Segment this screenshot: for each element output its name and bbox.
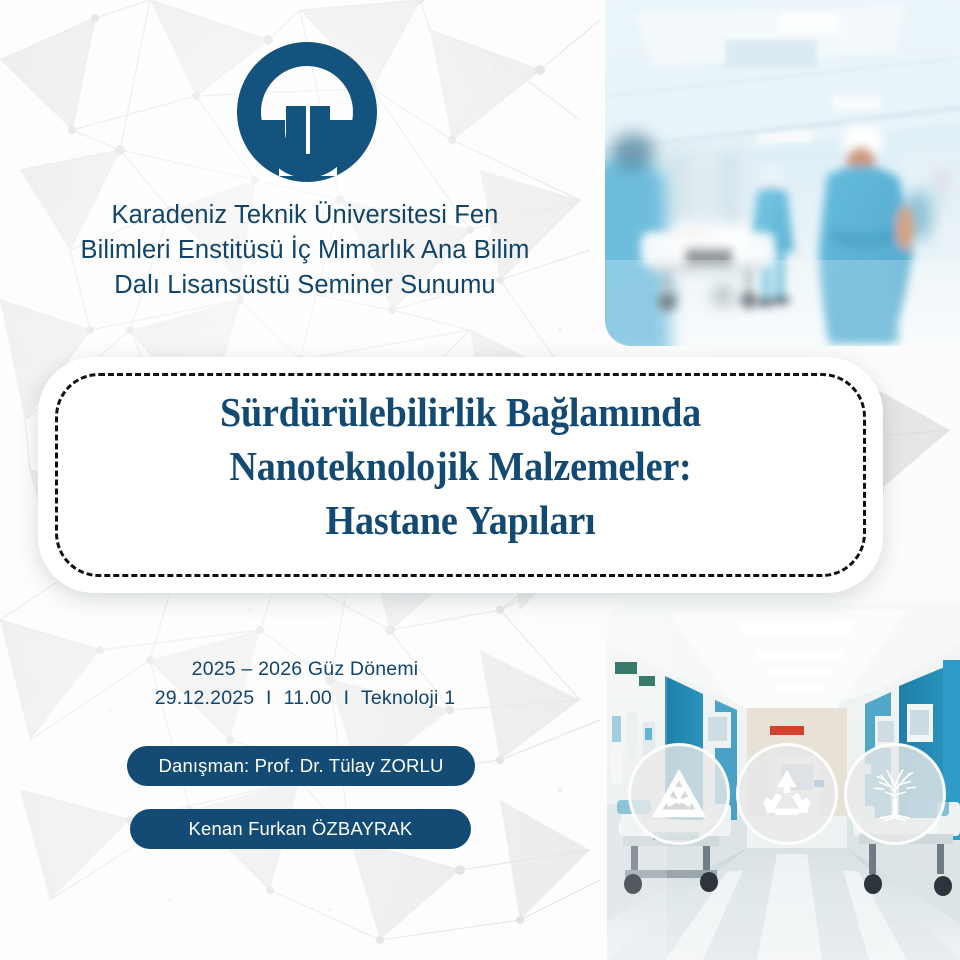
institution-line-1: Karadeniz Teknik Üniversitesi Fen xyxy=(10,198,600,233)
institution-heading: Karadeniz Teknik Üniversitesi Fen Biliml… xyxy=(10,198,600,304)
recycling-badge xyxy=(736,743,838,845)
institution-line-2: Bilimleri Enstitüsü İç Mimarlık Ana Bili… xyxy=(10,233,600,268)
recycling-icon xyxy=(756,763,818,825)
meta-separator-2: I xyxy=(338,687,356,709)
session-datetime-venue: 29.12.2025 I 11.00 I Teknoloji 1 xyxy=(10,684,600,713)
presenter-pill: Kenan Furkan ÖZBAYRAK xyxy=(130,809,471,849)
session-date: 29.12.2025 xyxy=(155,687,255,709)
hospital-corridor-staff-photo xyxy=(605,0,960,346)
advisor-pill: Danışman: Prof. Dr. Tülay ZORLU xyxy=(127,746,475,786)
sustainability-badges xyxy=(628,738,946,850)
title-line-3: Hastane Yapıları xyxy=(68,493,854,547)
presenter-label: Kenan Furkan ÖZBAYRAK xyxy=(189,818,413,840)
academic-term: 2025 – 2026 Güz Dönemi xyxy=(10,655,600,684)
institution-line-3: Dalı Lisansüstü Seminer Sunumu xyxy=(10,268,600,303)
tree-badge xyxy=(844,743,946,845)
radiation-hazard-badge xyxy=(628,743,730,845)
title-line-1: Sürdürülebilirlik Bağlamında xyxy=(68,385,854,439)
session-venue: Teknoloji 1 xyxy=(361,687,455,709)
seminar-poster: Karadeniz Teknik Üniversitesi Fen Biliml… xyxy=(0,0,960,960)
seminar-title-card: Sürdürülebilirlik Bağlamında Nanoteknolo… xyxy=(38,357,883,593)
radiation-hazard-icon xyxy=(648,763,710,825)
meta-separator-1: I xyxy=(260,687,278,709)
advisor-label: Danışman: Prof. Dr. Tülay ZORLU xyxy=(159,755,444,777)
session-meta: 2025 – 2026 Güz Dönemi 29.12.2025 I 11.0… xyxy=(10,655,600,714)
ktu-logo xyxy=(231,36,383,188)
seminar-title: Sürdürülebilirlik Bağlamında Nanoteknolo… xyxy=(68,385,854,547)
title-line-2: Nanoteknolojik Malzemeler: xyxy=(68,439,854,493)
session-time: 11.00 xyxy=(284,687,332,709)
tree-icon xyxy=(864,763,926,825)
